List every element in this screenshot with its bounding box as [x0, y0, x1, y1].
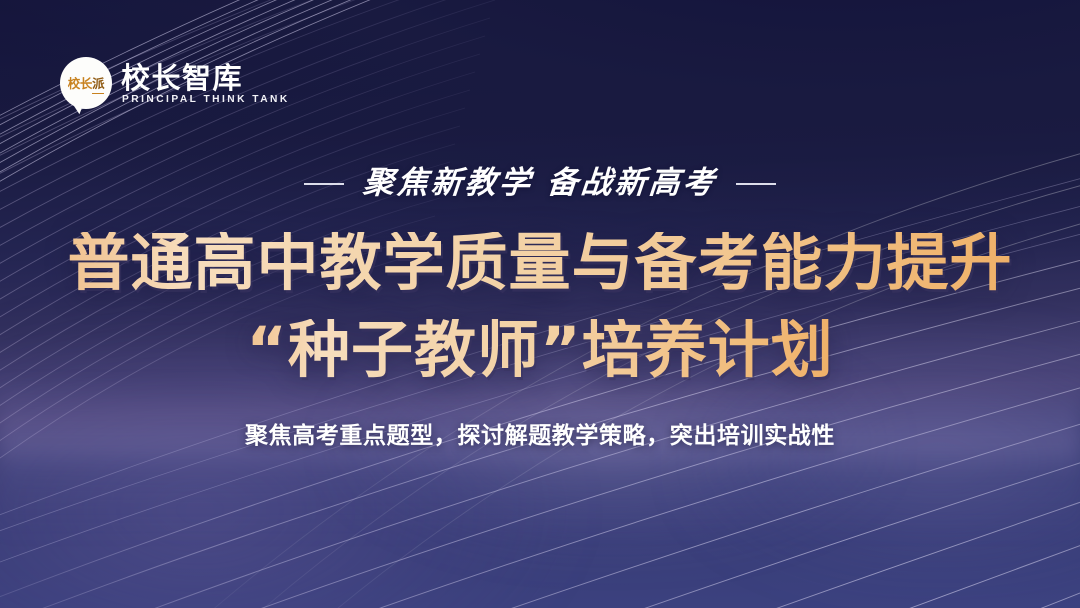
promotional-poster: 校长派 校长智库 PRINCIPAL THINK TANK 聚焦新教学 备战新高…: [0, 0, 1080, 608]
brand-logo: 校长派 校长智库 PRINCIPAL THINK TANK: [60, 57, 295, 109]
logo-mark-text: 校长派: [60, 57, 112, 109]
brand-wordmark: 校长智库 PRINCIPAL THINK TANK: [121, 62, 295, 105]
speech-bubble-icon: 校长派: [60, 57, 112, 109]
brand-name-en: PRINCIPAL THINK TANK: [121, 94, 290, 105]
brand-name-cn: 校长智库: [121, 64, 295, 93]
background-haze-band: [0, 380, 1080, 540]
logo-mark-last: 派: [92, 73, 104, 92]
logo-mark-prefix: 校长: [68, 73, 92, 92]
